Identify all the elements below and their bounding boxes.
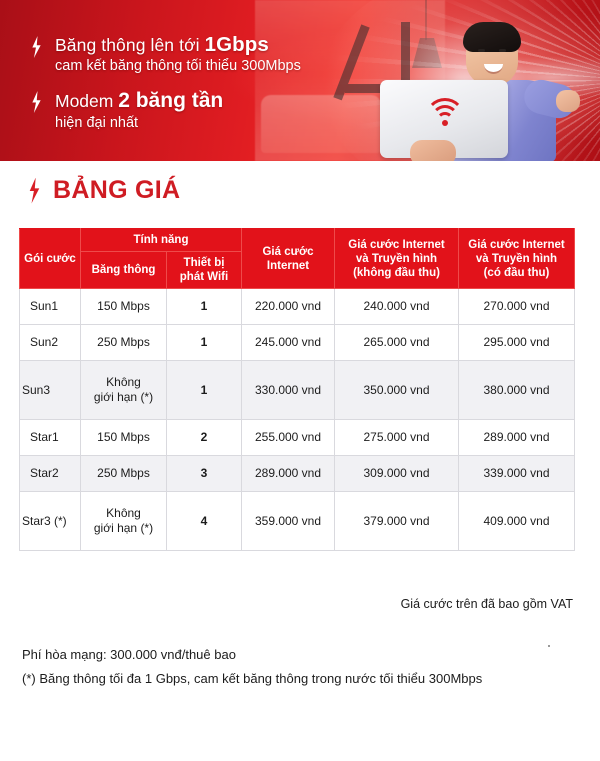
tv-no-receiver-cell: 350.000 vnd [335,361,459,420]
header-features-group: Tính năng [81,229,242,252]
banner-bullet-2-prefix: Modem [55,91,118,111]
tv-no-receiver-cell: 275.000 vnd [335,420,459,456]
banner-bullet-1-prefix: Băng thông lên tới [55,35,205,55]
promo-banner: Băng thông lên tới 1Gbps cam kết băng th… [0,0,600,161]
vat-note: Giá cước trên đã bao gồm VAT [401,597,573,611]
install-fee-note: Phí hòa mạng: 300.000 vnđ/thuê bao [22,643,482,667]
header-package: Gói cước [20,229,81,289]
package-cell: Sun3 [20,361,81,420]
package-cell: Star3 (*) [20,492,81,551]
table-row: Star2250 Mbps3289.000 vnd309.000 vnd339.… [20,456,575,492]
banner-bullet-1-highlight: 1Gbps [205,33,269,56]
asterisk-note: (*) Băng thông tối đa 1 Gbps, cam kết bă… [22,667,482,691]
header-tv-no-receiver-line3: (không đầu thu) [337,266,456,280]
wifi-device-cell: 1 [167,289,242,325]
wifi-device-cell: 2 [167,420,242,456]
header-internet-price-line1: Giá cước [244,245,332,259]
header-wifi-device: Thiết bị phát Wifi [167,252,242,289]
page-title: BẢNG GIÁ [27,176,180,205]
person-eye-left [478,49,485,52]
table-row: Star3 (*)Không giới hạn (*)4359.000 vnd3… [20,492,575,551]
internet-price-cell: 255.000 vnd [242,420,335,456]
banner-bullet-1-subtext: cam kết băng thông tối thiểu 300Mbps [55,56,301,76]
internet-price-cell: 330.000 vnd [242,361,335,420]
bandwidth-cell: Không giới hạn (*) [81,492,167,551]
table-row: Sun1150 Mbps1220.000 vnd240.000 vnd270.0… [20,289,575,325]
tv-no-receiver-cell: 240.000 vnd [335,289,459,325]
lightning-bolt-icon [30,91,43,113]
header-internet-price: Giá cước Internet [242,229,335,289]
tv-no-receiver-cell: 265.000 vnd [335,325,459,361]
package-cell: Star1 [20,420,81,456]
internet-price-cell: 359.000 vnd [242,492,335,551]
internet-price-cell: 220.000 vnd [242,289,335,325]
header-tv-no-receiver-line1: Giá cước Internet [337,238,456,252]
banner-bullet-1: Băng thông lên tới 1Gbps cam kết băng th… [30,34,330,76]
banner-bullet-2-highlight: 2 băng tần [118,89,223,112]
banner-bullet-list: Băng thông lên tới 1Gbps cam kết băng th… [30,34,330,146]
price-table: Gói cước Tính năng Giá cước Internet Giá… [19,228,575,551]
table-header-row-1: Gói cước Tính năng Giá cước Internet Giá… [20,229,575,252]
price-table-body: Sun1150 Mbps1220.000 vnd240.000 vnd270.0… [20,289,575,551]
package-cell: Sun2 [20,325,81,361]
table-row: Sun3Không giới hạn (*)1330.000 vnd350.00… [20,361,575,420]
wifi-icon [424,98,466,128]
package-cell: Star2 [20,456,81,492]
bandwidth-cell: 150 Mbps [81,289,167,325]
price-table-head: Gói cước Tính năng Giá cước Internet Giá… [20,229,575,289]
banner-bullet-2-subtext: hiện đại nhất [55,113,223,133]
header-tv-with-receiver: Giá cước Internet và Truyền hình (có đầu… [459,229,575,289]
pointing-hand [556,90,580,112]
bandwidth-cell: 150 Mbps [81,420,167,456]
tv-with-receiver-cell: 289.000 vnd [459,420,575,456]
tv-with-receiver-cell: 295.000 vnd [459,325,575,361]
lightning-bolt-icon [30,36,43,58]
table-row: Sun2250 Mbps1245.000 vnd265.000 vnd295.0… [20,325,575,361]
package-cell: Sun1 [20,289,81,325]
bandwidth-cell: 250 Mbps [81,325,167,361]
table-row: Star1150 Mbps2255.000 vnd275.000 vnd289.… [20,420,575,456]
header-tv-no-receiver: Giá cước Internet và Truyền hình (không … [335,229,459,289]
header-internet-price-line2: Internet [244,259,332,273]
tv-no-receiver-cell: 379.000 vnd [335,492,459,551]
tv-with-receiver-cell: 409.000 vnd [459,492,575,551]
wifi-device-cell: 3 [167,456,242,492]
header-tv-with-receiver-line3: (có đầu thu) [461,266,572,280]
header-tv-with-receiver-line1: Giá cước Internet [461,238,572,252]
header-bandwidth: Băng thông [81,252,167,289]
page-title-text: BẢNG GIÁ [53,176,180,205]
tv-no-receiver-cell: 309.000 vnd [335,456,459,492]
wifi-device-cell: 1 [167,325,242,361]
person-eye-right [499,49,506,52]
holding-hand [410,140,456,161]
wifi-device-cell: 4 [167,492,242,551]
tv-with-receiver-cell: 339.000 vnd [459,456,575,492]
footer-notes: Phí hòa mạng: 300.000 vnđ/thuê bao (*) B… [22,643,482,691]
person-hair [463,22,521,52]
tv-with-receiver-cell: 380.000 vnd [459,361,575,420]
header-tv-with-receiver-line2: và Truyền hình [461,252,572,266]
tv-with-receiver-cell: 270.000 vnd [459,289,575,325]
lightning-bolt-icon [27,178,42,204]
person-with-laptop [416,18,576,161]
header-tv-no-receiver-line2: và Truyền hình [337,252,456,266]
internet-price-cell: 289.000 vnd [242,456,335,492]
internet-price-cell: 245.000 vnd [242,325,335,361]
stray-speck [548,645,550,647]
bandwidth-cell: Không giới hạn (*) [81,361,167,420]
banner-bullet-2: Modem 2 băng tần hiện đại nhất [30,89,330,133]
bandwidth-cell: 250 Mbps [81,456,167,492]
wifi-device-cell: 1 [167,361,242,420]
